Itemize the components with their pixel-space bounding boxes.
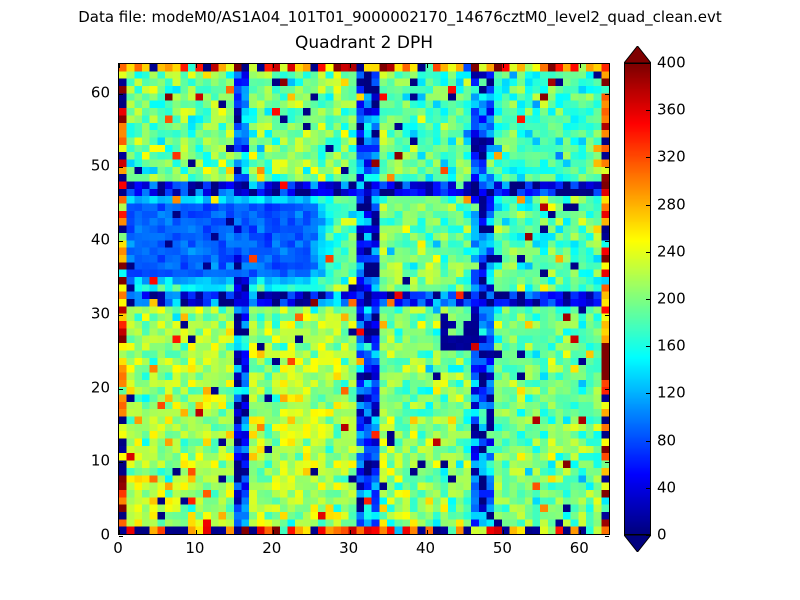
colorbar-tick-label: 40 xyxy=(657,479,676,496)
x-tick-mark-top xyxy=(350,64,351,68)
x-tick-mark-top xyxy=(503,64,504,68)
colorbar-tick-label: 400 xyxy=(657,55,686,72)
colorbar[interactable] xyxy=(624,63,651,535)
y-tick-mark xyxy=(119,389,123,390)
x-tick-mark xyxy=(196,530,197,534)
heatmap-axes[interactable] xyxy=(118,63,610,535)
y-tick-mark xyxy=(119,536,123,537)
y-tick-label: 20 xyxy=(70,379,110,396)
colorbar-tick-label: 0 xyxy=(657,527,667,544)
y-tick-label: 30 xyxy=(70,305,110,322)
y-tick-mark-right xyxy=(605,462,609,463)
colorbar-tick-label: 280 xyxy=(657,196,686,213)
colorbar-tick-label: 120 xyxy=(657,385,686,402)
y-tick-label: 60 xyxy=(70,84,110,101)
y-tick-mark-right xyxy=(605,94,609,95)
y-tick-mark xyxy=(119,241,123,242)
x-tick-label: 20 xyxy=(262,540,281,557)
colorbar-tick-label: 80 xyxy=(657,432,676,449)
colorbar-extend-under-arrow-icon xyxy=(624,535,651,552)
colorbar-tick-mark xyxy=(646,157,651,158)
y-tick-mark xyxy=(119,167,123,168)
x-tick-mark xyxy=(427,530,428,534)
x-tick-mark xyxy=(350,530,351,534)
x-tick-mark xyxy=(503,530,504,534)
colorbar-tick-mark xyxy=(646,299,651,300)
y-tick-label: 40 xyxy=(70,232,110,249)
colorbar-tick-label: 200 xyxy=(657,291,686,308)
figure-canvas: Data file: modeM0/AS1A04_101T01_90000021… xyxy=(0,0,800,600)
x-tick-mark-top xyxy=(580,64,581,68)
colorbar-tick-mark xyxy=(646,535,651,536)
y-tick-mark-right xyxy=(605,315,609,316)
x-tick-mark-top xyxy=(273,64,274,68)
y-tick-mark-right xyxy=(605,241,609,242)
y-tick-mark xyxy=(119,315,123,316)
colorbar-tick-label: 360 xyxy=(657,102,686,119)
colorbar-tick-mark xyxy=(646,393,651,394)
colorbar-tick-label: 160 xyxy=(657,338,686,355)
x-tick-mark xyxy=(273,530,274,534)
y-tick-label: 10 xyxy=(70,453,110,470)
x-tick-label: 40 xyxy=(416,540,435,557)
colorbar-tick-mark xyxy=(646,346,651,347)
colorbar-tick-label: 320 xyxy=(657,149,686,166)
y-tick-label: 50 xyxy=(70,158,110,175)
colorbar-tick-label: 240 xyxy=(657,243,686,260)
colorbar-tick-mark xyxy=(646,63,651,64)
x-tick-label: 30 xyxy=(339,540,358,557)
colorbar-tick-mark xyxy=(646,205,651,206)
x-tick-mark-top xyxy=(119,64,120,68)
detector-plane-histogram-image[interactable] xyxy=(119,64,609,534)
x-tick-mark xyxy=(580,530,581,534)
y-tick-label: 0 xyxy=(70,527,110,544)
y-tick-mark-right xyxy=(605,536,609,537)
y-tick-mark xyxy=(119,462,123,463)
x-tick-label: 0 xyxy=(113,540,123,557)
y-tick-mark xyxy=(119,94,123,95)
colorbar-tick-mark xyxy=(646,488,651,489)
x-tick-label: 60 xyxy=(570,540,589,557)
colorbar-tick-mark xyxy=(646,110,651,111)
y-tick-mark-right xyxy=(605,389,609,390)
x-tick-label: 10 xyxy=(185,540,204,557)
plot-title: Quadrant 2 DPH xyxy=(118,33,610,53)
y-tick-mark-right xyxy=(605,167,609,168)
data-file-suptitle: Data file: modeM0/AS1A04_101T01_90000021… xyxy=(0,8,800,26)
x-tick-label: 50 xyxy=(493,540,512,557)
colorbar-tick-mark xyxy=(646,252,651,253)
x-tick-mark-top xyxy=(196,64,197,68)
x-tick-mark xyxy=(119,530,120,534)
x-tick-mark-top xyxy=(427,64,428,68)
colorbar-tick-mark xyxy=(646,441,651,442)
colorbar-extend-over-arrow-icon xyxy=(624,46,651,63)
